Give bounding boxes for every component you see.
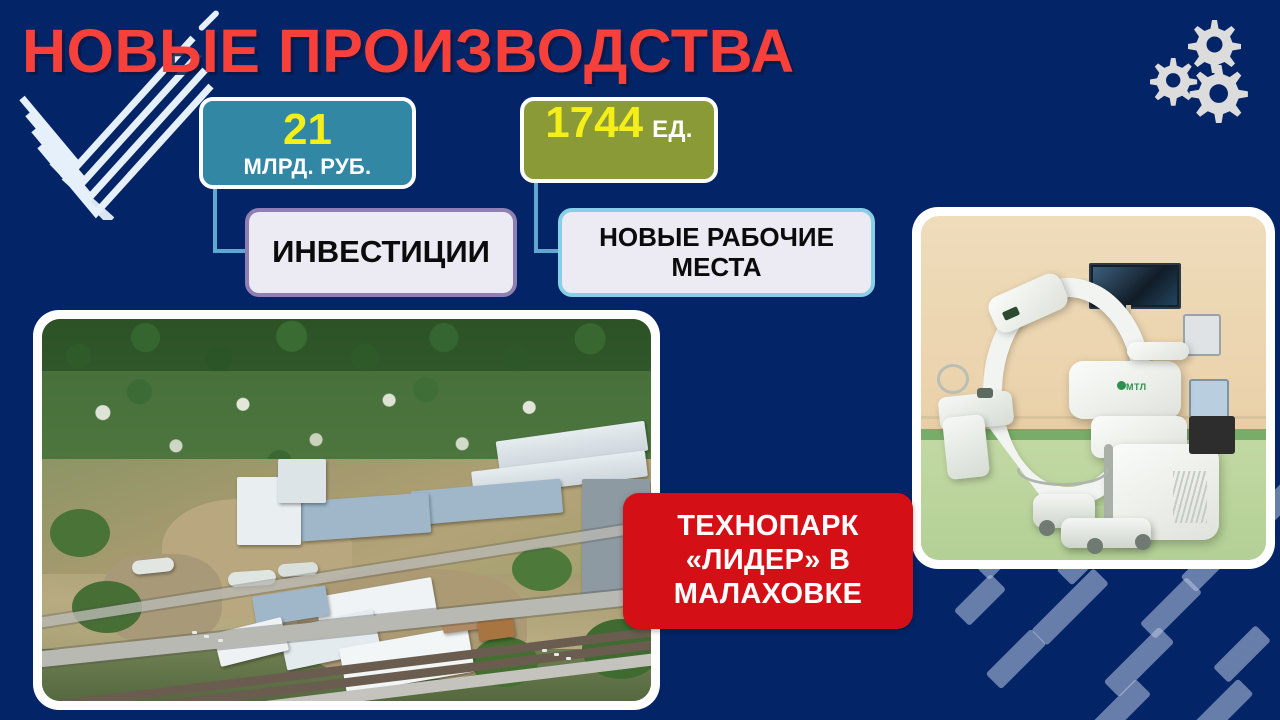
page-title: НОВЫЕ ПРОИЗВОДСТВА xyxy=(22,16,795,86)
equipment-photo-art: МТЛ xyxy=(921,216,1266,560)
stat-value-investments: 21 xyxy=(283,108,332,152)
stat-chip-investments[interactable]: 21 МЛРД. РУБ. xyxy=(199,97,416,189)
stat-label-investments[interactable]: ИНВЕСТИЦИИ xyxy=(245,208,517,297)
aerial-industrial-park-photo[interactable] xyxy=(33,310,660,710)
stat-chip-jobs[interactable]: 1744 ЕД. xyxy=(520,97,718,183)
equipment-device-logo: МТЛ xyxy=(1126,382,1147,392)
aerial-photo-canvas xyxy=(42,319,651,701)
three-gears-icon xyxy=(1150,18,1265,123)
slide-root: НОВЫЕ ПРОИЗВОДСТВА 21 МЛРД. РУБ. 1744 ЕД… xyxy=(0,0,1280,720)
equipment-photo-canvas: МТЛ xyxy=(921,216,1266,560)
caption-technopark[interactable]: ТЕХНОПАРК «ЛИДЕР» В МАЛАХОВКЕ xyxy=(623,493,913,629)
medical-c-arm-equipment-photo[interactable]: МТЛ xyxy=(912,207,1275,569)
stat-label-jobs[interactable]: НОВЫЕ РАБОЧИЕ МЕСТА xyxy=(558,208,875,297)
aerial-photo-art xyxy=(42,319,651,701)
stat-value-jobs: 1744 xyxy=(545,101,643,145)
stat-unit-jobs: ЕД. xyxy=(652,118,693,142)
stat-unit-investments: МЛРД. РУБ. xyxy=(244,156,372,178)
